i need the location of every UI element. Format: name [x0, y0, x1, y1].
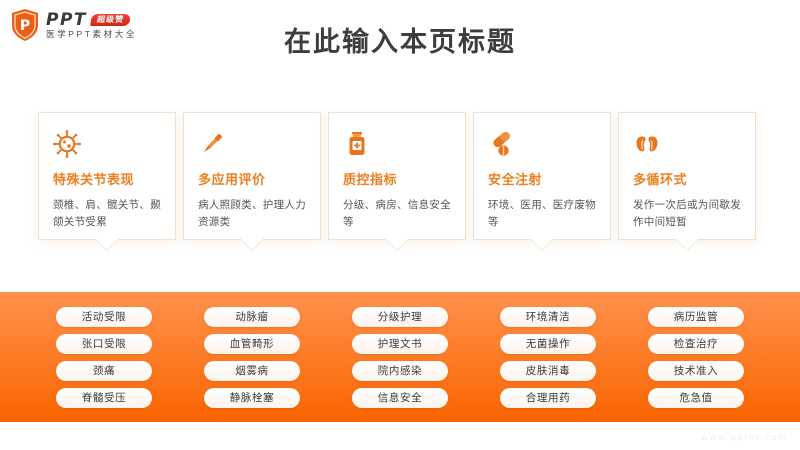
tag-column: 分级护理 护理文书 院内感染 信息安全 [326, 307, 474, 408]
dropper-icon [198, 129, 306, 159]
tag-pill[interactable]: 护理文书 [352, 334, 448, 354]
tag-pill[interactable]: 病历监管 [648, 307, 744, 327]
tag-column: 病历监管 检查治疗 技术准入 危急值 [622, 307, 770, 408]
tag-pill[interactable]: 技术准入 [648, 361, 744, 381]
tag-pill[interactable]: 动脉瘤 [204, 307, 300, 327]
feature-card[interactable]: 多应用评价 病人照顾类、护理人力资源类 [183, 112, 321, 240]
tag-pill[interactable]: 烟雾病 [204, 361, 300, 381]
feature-card-body: 发作一次后或为间歇发作中间短暂 [633, 197, 741, 232]
tag-pill[interactable]: 血管畸形 [204, 334, 300, 354]
feature-card-row: 特殊关节表现 颈椎、肩、髋关节、颞颌关节受累 多应用评价 病人照顾类、护理人力资… [38, 112, 780, 240]
tag-pill[interactable]: 脊髓受压 [56, 388, 152, 408]
capsule-pills-icon [488, 129, 596, 159]
tag-panel: 活动受限 张口受限 颈痛 脊髓受压 动脉瘤 血管畸形 烟雾病 静脉栓塞 分级护理… [0, 292, 800, 422]
feature-card[interactable]: 安全注射 环境、医用、医疗废物等 [473, 112, 611, 240]
tag-pill[interactable]: 危急值 [648, 388, 744, 408]
feature-card-title: 多循环式 [633, 169, 741, 188]
feature-card-body: 病人照顾类、护理人力资源类 [198, 197, 306, 232]
tag-column: 动脉瘤 血管畸形 烟雾病 静脉栓塞 [178, 307, 326, 408]
feature-card-title: 多应用评价 [198, 169, 306, 188]
tag-pill[interactable]: 分级护理 [352, 307, 448, 327]
feature-card[interactable]: 特殊关节表现 颈椎、肩、髋关节、颞颌关节受累 [38, 112, 176, 240]
feature-card-title: 安全注射 [488, 169, 596, 188]
virus-icon [53, 129, 161, 159]
tag-pill[interactable]: 院内感染 [352, 361, 448, 381]
feature-card-body: 颈椎、肩、髋关节、颞颌关节受累 [53, 197, 161, 232]
feature-card-body: 分级、病房、信息安全等 [343, 197, 451, 232]
footer-watermark: www.ppter.com [701, 432, 788, 442]
tag-column: 活动受限 张口受限 颈痛 脊髓受压 [30, 307, 178, 408]
tag-pill[interactable]: 活动受限 [56, 307, 152, 327]
medicine-bottle-icon [343, 129, 451, 159]
tag-pill[interactable]: 颈痛 [56, 361, 152, 381]
tag-pill[interactable]: 环境清洁 [500, 307, 596, 327]
tag-pill[interactable]: 信息安全 [352, 388, 448, 408]
tag-pill[interactable]: 皮肤消毒 [500, 361, 596, 381]
page-title: 在此输入本页标题 [0, 20, 800, 59]
kidneys-icon [633, 129, 741, 159]
tag-pill[interactable]: 张口受限 [56, 334, 152, 354]
feature-card-body: 环境、医用、医疗废物等 [488, 197, 596, 232]
tag-pill[interactable]: 无菌操作 [500, 334, 596, 354]
feature-card[interactable]: 质控指标 分级、病房、信息安全等 [328, 112, 466, 240]
tag-pill[interactable]: 合理用药 [500, 388, 596, 408]
feature-card[interactable]: 多循环式 发作一次后或为间歇发作中间短暂 [618, 112, 756, 240]
tag-column: 环境清洁 无菌操作 皮肤消毒 合理用药 [474, 307, 622, 408]
tag-pill[interactable]: 检查治疗 [648, 334, 744, 354]
tag-pill[interactable]: 静脉栓塞 [204, 388, 300, 408]
feature-card-title: 特殊关节表现 [53, 169, 161, 188]
feature-card-title: 质控指标 [343, 169, 451, 188]
